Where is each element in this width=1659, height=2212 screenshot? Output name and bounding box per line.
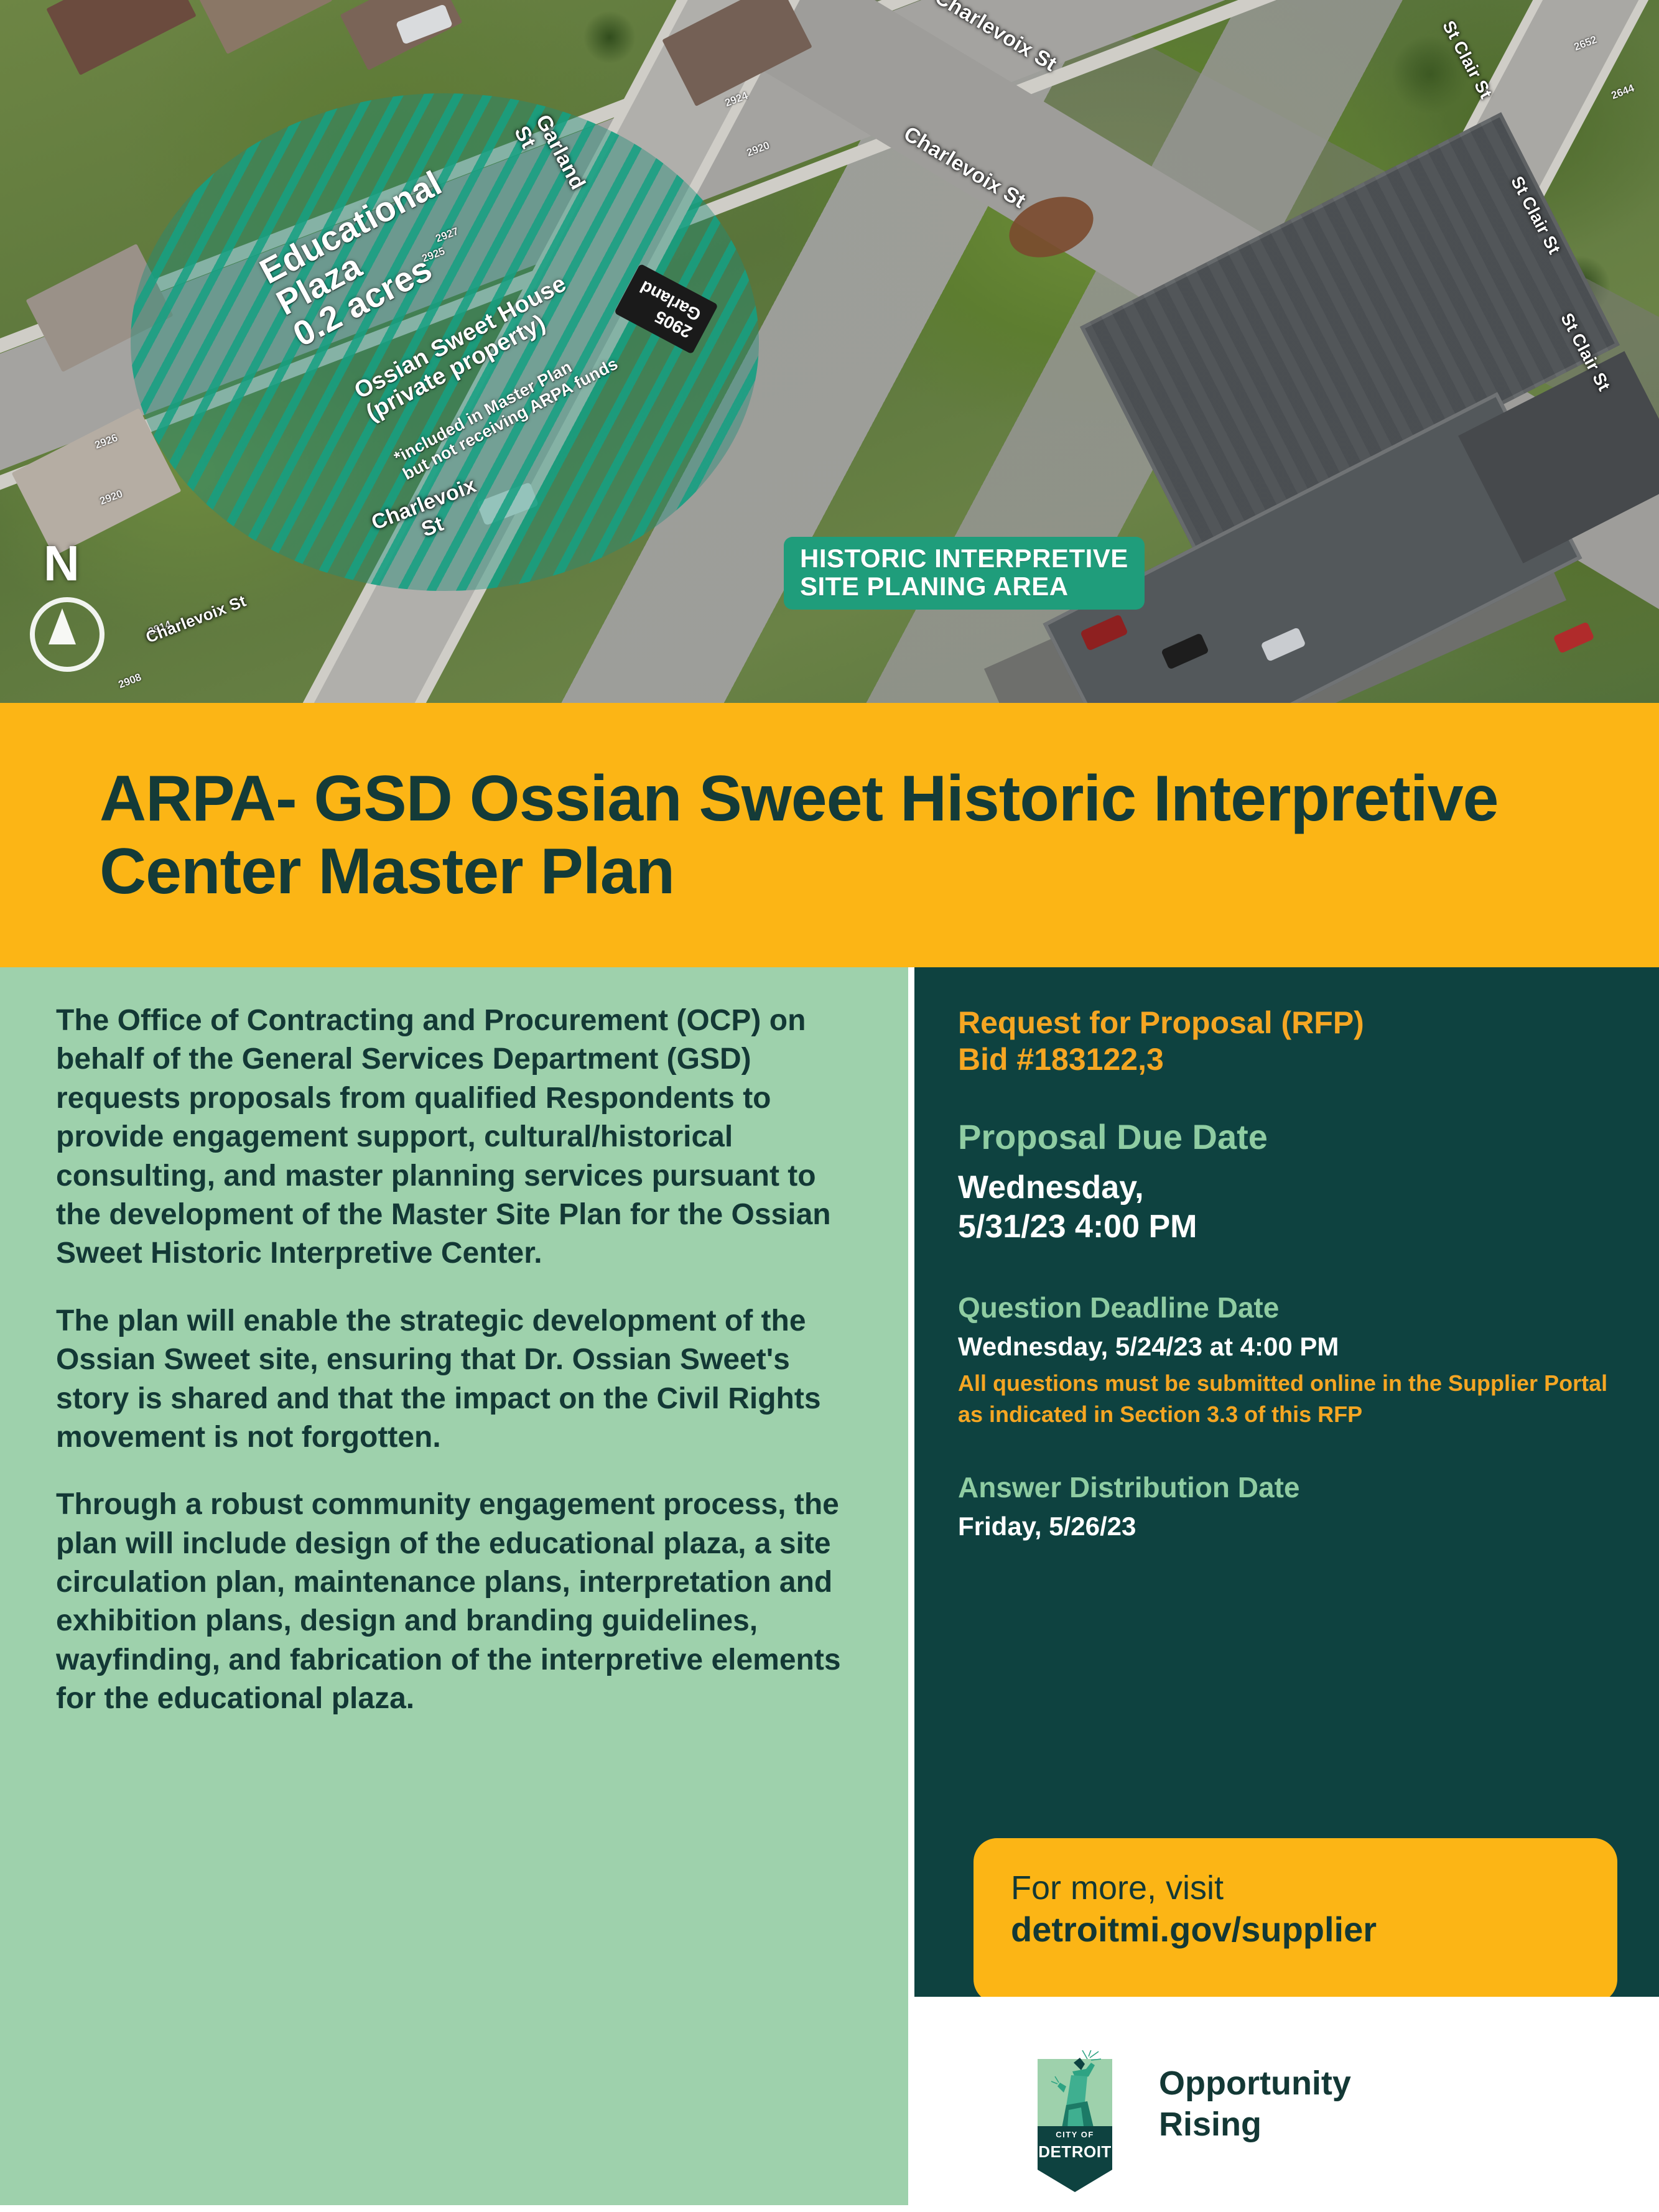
opportunity-rising-tagline: Opportunity Rising bbox=[1159, 2063, 1351, 2145]
description-body: The Office of Contracting and Procuremen… bbox=[56, 1001, 852, 1719]
answer-distribution-value: Friday, 5/26/23 bbox=[958, 1512, 1615, 1541]
rfp-bid-heading: Request for Proposal (RFP) Bid #183122,3 bbox=[958, 1005, 1615, 1078]
title-banner: ARPA- GSD Ossian Sweet Historic Interpre… bbox=[0, 703, 1659, 967]
question-deadline-value: Wednesday, 5/24/23 at 4:00 PM bbox=[958, 1332, 1615, 1362]
cta-url[interactable]: detroitmi.gov/supplier bbox=[1011, 1910, 1580, 1949]
cta-line-1: For more, visit bbox=[1011, 1869, 1580, 1907]
compass-arrow bbox=[49, 608, 76, 644]
city-of-detroit-logo: CITY OF DETROIT bbox=[1026, 2033, 1123, 2176]
compass-north-label: N bbox=[44, 535, 80, 592]
logo-city-of-text: CITY OF bbox=[1038, 2130, 1112, 2139]
aerial-site-map: 2927 2925 2926 2920 2914 2908 2924 2920 … bbox=[0, 0, 1659, 703]
supplier-portal-cta-button[interactable]: For more, visit detroitmi.gov/supplier bbox=[974, 1838, 1617, 2003]
paragraph-purpose: The plan will enable the strategic devel… bbox=[56, 1302, 852, 1457]
paragraph-deliverables: Through a robust community engagement pr… bbox=[56, 1485, 852, 1718]
footer-branding: CITY OF DETROIT Opportunity Rising bbox=[914, 1997, 1659, 2212]
description-panel: The Office of Contracting and Procuremen… bbox=[0, 967, 908, 2205]
page-title: ARPA- GSD Ossian Sweet Historic Interpre… bbox=[100, 763, 1568, 908]
proposal-due-date-value: Wednesday, 5/31/23 4:00 PM bbox=[958, 1168, 1615, 1247]
question-deadline-label: Question Deadline Date bbox=[958, 1291, 1615, 1324]
shield-name-band-point bbox=[1038, 2170, 1112, 2192]
column-divider bbox=[908, 967, 914, 2205]
north-arrow-icon: N bbox=[19, 535, 124, 690]
logo-detroit-text: DETROIT bbox=[1038, 2142, 1112, 2162]
question-submission-note: All questions must be submitted online i… bbox=[958, 1368, 1615, 1431]
paragraph-scope: The Office of Contracting and Procuremen… bbox=[56, 1001, 852, 1273]
planning-area-banner: HISTORIC INTERPRETIVE SITE PLANING AREA bbox=[784, 537, 1145, 610]
proposal-due-date-label: Proposal Due Date bbox=[958, 1117, 1615, 1157]
answer-distribution-label: Answer Distribution Date bbox=[958, 1471, 1615, 1504]
